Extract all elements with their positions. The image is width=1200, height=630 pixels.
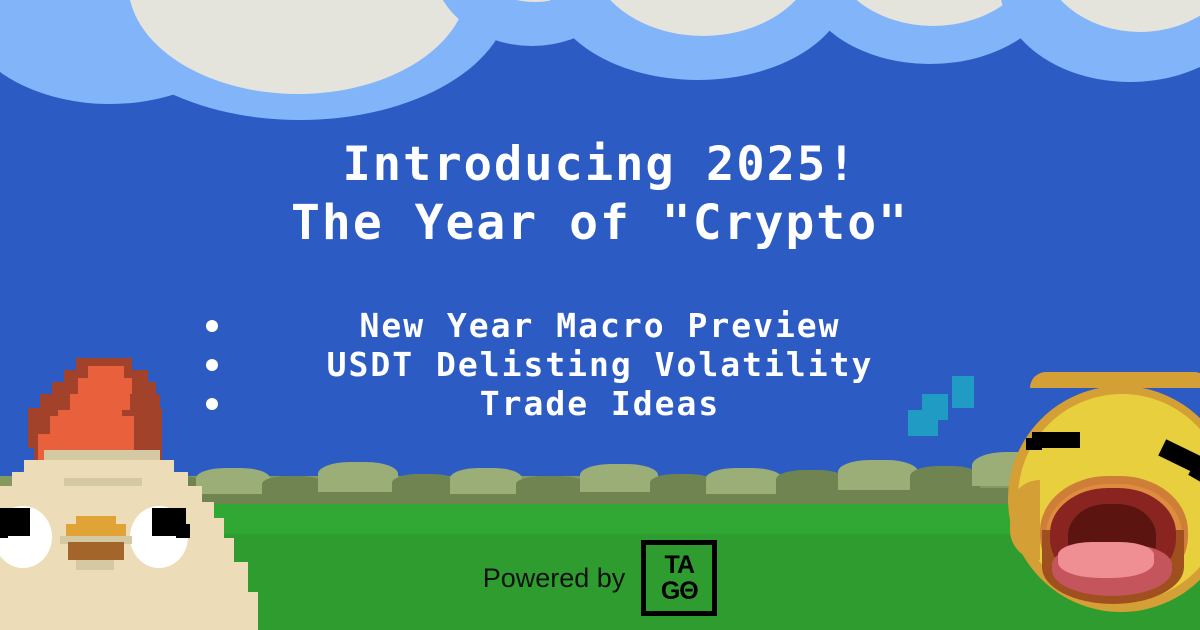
bush bbox=[838, 460, 918, 490]
bush bbox=[318, 462, 398, 492]
list-item-label: New Year Macro Preview bbox=[359, 306, 840, 345]
list-item-label: USDT Delisting Volatility bbox=[327, 345, 874, 384]
bullet-dot-icon bbox=[206, 359, 218, 371]
bush bbox=[392, 474, 458, 496]
tago-logo-bottom: GΘ bbox=[661, 578, 698, 604]
bullet-dot-icon bbox=[206, 320, 218, 332]
social-card: Introducing 2025! The Year of "Crypto" N… bbox=[0, 0, 1200, 630]
bush bbox=[910, 466, 980, 492]
bullet-dot-icon bbox=[206, 398, 218, 410]
powered-by-label: Powered by bbox=[483, 563, 626, 594]
list-item-label: Trade Ideas bbox=[480, 384, 721, 423]
bush bbox=[776, 470, 846, 494]
topic-list: New Year Macro Preview USDT Delisting Vo… bbox=[0, 306, 1200, 423]
headline-line-2: The Year of "Crypto" bbox=[0, 194, 1200, 252]
tago-logo-top: TA bbox=[665, 552, 694, 578]
bush bbox=[450, 468, 522, 494]
list-item: USDT Delisting Volatility bbox=[0, 345, 1200, 384]
bush bbox=[706, 468, 782, 494]
headline-line-1: Introducing 2025! bbox=[342, 137, 857, 192]
bush bbox=[650, 474, 714, 496]
list-item: New Year Macro Preview bbox=[0, 306, 1200, 345]
bush bbox=[516, 476, 586, 496]
page-title: Introducing 2025! The Year of "Crypto" bbox=[0, 136, 1200, 252]
tago-logo: TA GΘ bbox=[641, 540, 717, 616]
footer-attribution: Powered by TA GΘ bbox=[0, 540, 1200, 616]
bush bbox=[580, 464, 658, 492]
list-item: Trade Ideas bbox=[0, 384, 1200, 423]
